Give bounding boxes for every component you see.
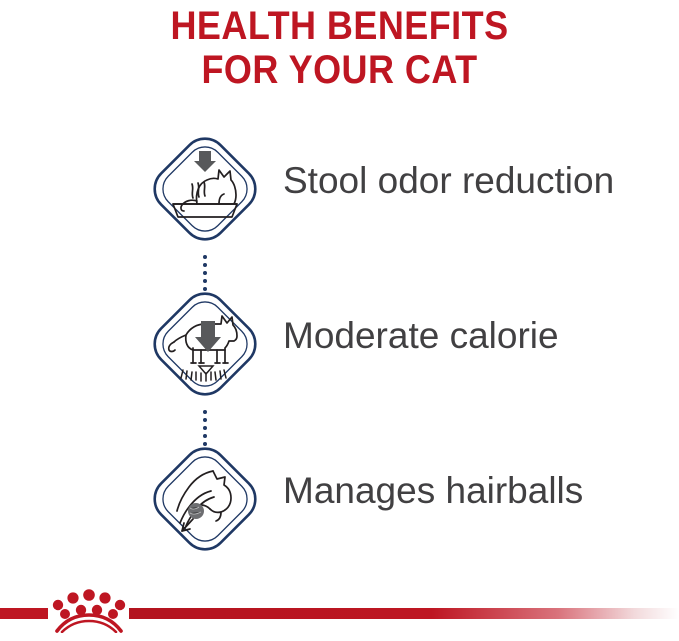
footer-brand-bar (0, 575, 679, 641)
benefits-list: Stool odor reduction (0, 125, 679, 590)
cat-litter-box-odor-icon (141, 125, 269, 253)
benefit-label-moderate-calorie: Moderate calorie (283, 314, 559, 358)
page-title: HEALTH BENEFITS FOR YOUR CAT (0, 0, 679, 92)
footer-bar-right-segment (129, 608, 679, 619)
benefit-label-hairballs: Manages hairballs (283, 469, 583, 513)
cat-weight-scale-icon (141, 280, 269, 408)
benefit-label-stool-odor: Stool odor reduction (283, 159, 614, 203)
benefit-item-moderate-calorie: Moderate calorie (0, 280, 679, 435)
benefit-item-stool-odor: Stool odor reduction (0, 125, 679, 280)
connector-dots-2 (203, 410, 207, 438)
title-line-1: HEALTH BENEFITS (34, 0, 645, 48)
title-line-2: FOR YOUR CAT (34, 48, 645, 92)
connector-dots-1 (203, 255, 207, 283)
footer-bar-left-segment (0, 608, 48, 619)
benefit-item-hairballs: Manages hairballs (0, 435, 679, 590)
royal-canin-crown-logo (48, 583, 130, 633)
cat-hairball-icon (141, 435, 269, 563)
